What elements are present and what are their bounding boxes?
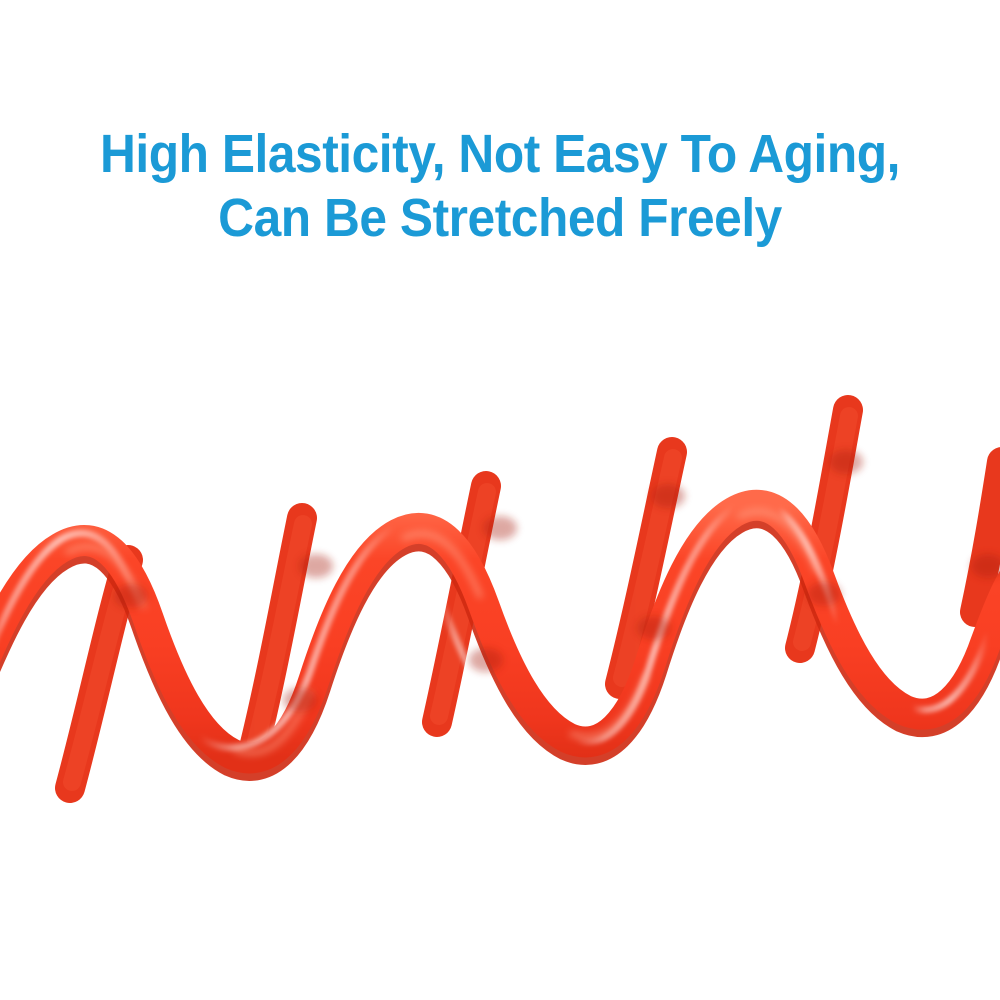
coil-crossing-shadows [114,450,1000,712]
headline-line-1: High Elasticity, Not Easy To Aging, [40,122,960,186]
headline-block: High Elasticity, Not Easy To Aging, Can … [0,122,1000,250]
coil-back-strands [70,410,1000,788]
headline-line-2: Can Be Stretched Freely [40,186,960,250]
coil-front-strands [0,505,1000,764]
product-feature-image: High Elasticity, Not Easy To Aging, Can … [0,0,1000,1000]
